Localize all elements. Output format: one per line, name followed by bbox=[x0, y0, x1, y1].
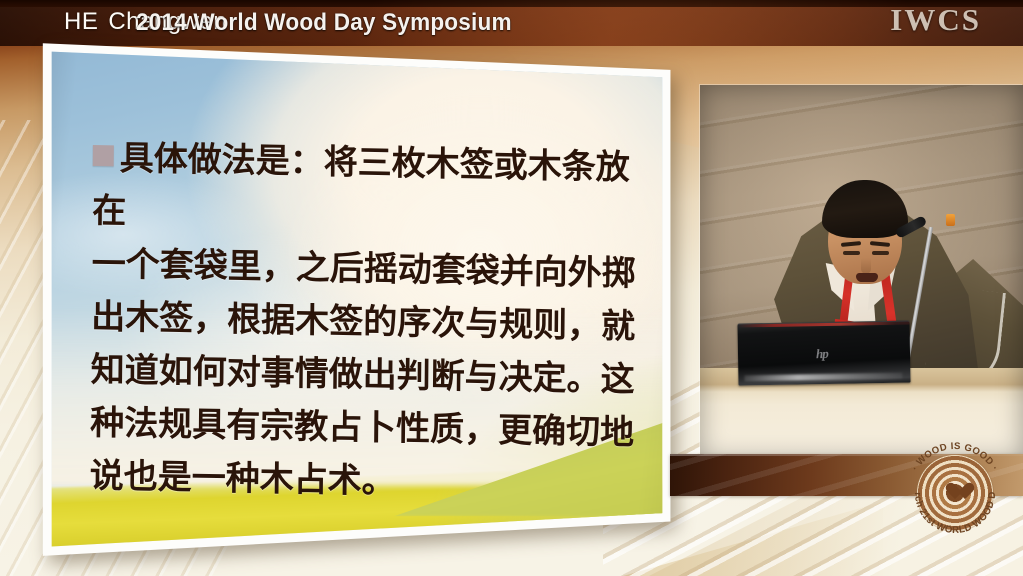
presentation-screen: 2014 World Wood Day Symposium IWCS 具体做法是… bbox=[0, 0, 1023, 576]
page-title: 2014 World Wood Day Symposium bbox=[136, 9, 512, 37]
presentation-slide: 具体做法是：将三枚木签或木条放在 一个套袋里，之后摇动套袋并向外掷 出木签，根据… bbox=[39, 36, 673, 558]
iwcs-logo: IWCS bbox=[890, 2, 981, 38]
logo-top-arc-text: · WOOD IS GOOD · bbox=[910, 441, 1000, 473]
speaker-eye-left bbox=[843, 251, 860, 255]
speaker-mouth bbox=[856, 273, 878, 282]
laptop-brand-logo: hp bbox=[816, 346, 828, 362]
speaker-nose bbox=[861, 258, 871, 274]
header-top-shade bbox=[0, 0, 1023, 7]
speaker-eye-right bbox=[872, 251, 889, 255]
world-wood-day-logo: · WOOD IS GOOD · March 21st WORLD WOOD D… bbox=[903, 441, 1007, 545]
laptop: hp bbox=[737, 321, 910, 386]
lapel-pin-icon bbox=[946, 214, 955, 226]
speaker-surname: HE bbox=[64, 8, 98, 35]
slide-edge-shadow bbox=[39, 36, 673, 558]
speaker-video-feed: hp bbox=[700, 85, 1023, 460]
logo-ring-text: · WOOD IS GOOD · March 21st WORLD WOOD D… bbox=[903, 441, 1007, 545]
